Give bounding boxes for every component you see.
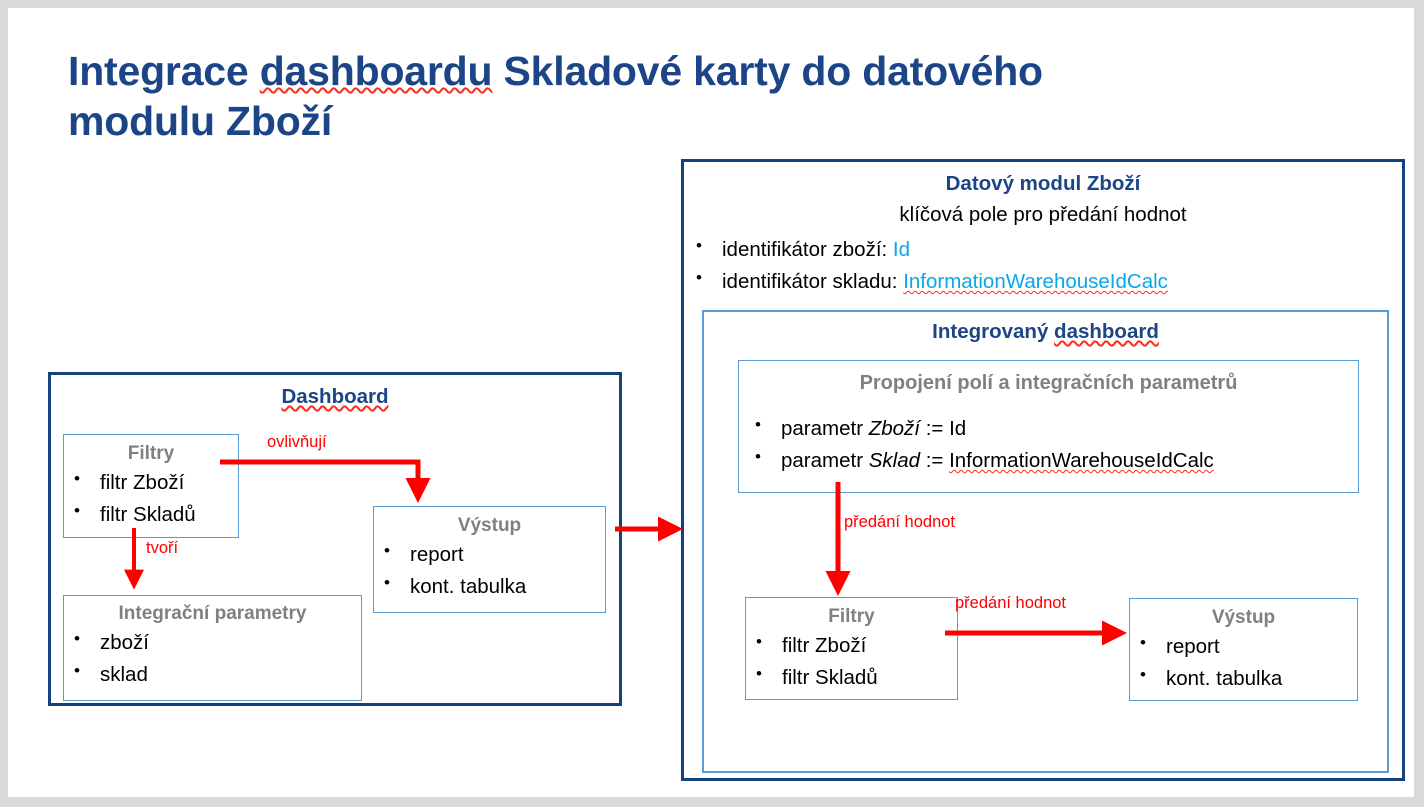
panel-datovy-modul: Datový modul Zboží klíčová pole pro před…	[681, 159, 1405, 781]
param-name: Zboží	[869, 417, 920, 440]
list-item: kont. tabulka	[374, 571, 605, 603]
list-item: filtr Skladů	[746, 662, 957, 694]
dashboard-heading-text: Dashboard	[281, 385, 388, 408]
title-text-after: Skladové karty do datového	[492, 48, 1043, 94]
slide-surround: Integrace dashboardu Skladové karty do d…	[0, 0, 1424, 807]
title-misspelled-word: dashboardu	[260, 48, 493, 94]
list-item-identifikator-zbozi: identifikátor zboží: Id	[686, 234, 1406, 266]
arrow-label-predani-hodnot-horizontal: předání hodnot	[955, 594, 1066, 613]
param-value: Id	[949, 417, 966, 440]
list-item-identifikator-skladu: identifikátor skladu: InformationWarehou…	[686, 266, 1406, 298]
panel-dashboard: Dashboard Filtry filtr Zboží filtr Sklad…	[48, 372, 622, 706]
box-filtry-right-list: filtr Zboží filtr Skladů	[746, 630, 957, 694]
list-item: report	[1130, 631, 1357, 663]
integrovany-heading-misspelled: dashboard	[1054, 320, 1159, 343]
key-label: identifikátor zboží:	[722, 238, 893, 261]
arrow-label-ovlivnuji: ovlivňují	[267, 433, 327, 452]
box-vystup-right: Výstup report kont. tabulka	[1129, 598, 1358, 701]
title-text-before: Integrace	[68, 48, 260, 94]
title-line-2: modulu Zboží	[68, 98, 332, 144]
datovy-modul-heading: Datový modul Zboží	[684, 173, 1402, 196]
box-propojeni: Propojení polí a integračních parametrů …	[738, 360, 1359, 493]
box-filtry-left-list: filtr Zboží filtr Skladů	[64, 467, 238, 531]
box-filtry-left: Filtry filtr Zboží filtr Skladů	[63, 434, 239, 538]
box-filtry-right: Filtry filtr Zboží filtr Skladů	[745, 597, 958, 700]
param-value: InformationWarehouseIdCalc	[949, 449, 1214, 472]
list-item: filtr Zboží	[64, 467, 238, 499]
integrovany-heading-text: Integrovaný	[932, 320, 1054, 343]
box-vystup-right-heading: Výstup	[1130, 606, 1357, 630]
slide-canvas: Integrace dashboardu Skladové karty do d…	[8, 8, 1414, 797]
param-op: :=	[920, 449, 949, 472]
list-item: filtr Skladů	[64, 499, 238, 531]
key-value-id: Id	[893, 238, 910, 261]
list-item: sklad	[64, 659, 361, 691]
param-prefix: parametr	[781, 449, 869, 472]
param-op: :=	[920, 417, 949, 440]
datovy-modul-key-list: identifikátor zboží: Id identifikátor sk…	[686, 234, 1406, 298]
key-label: identifikátor skladu:	[722, 270, 903, 293]
box-propojeni-heading: Propojení polí a integračních parametrů	[739, 371, 1358, 396]
param-name: Sklad	[869, 449, 920, 472]
list-item: filtr Zboží	[746, 630, 957, 662]
datovy-modul-subtitle: klíčová pole pro předání hodnot	[684, 203, 1402, 228]
integrovany-dashboard-heading: Integrovaný dashboard	[704, 321, 1387, 344]
arrow-label-tvori: tvoří	[146, 539, 178, 558]
param-prefix: parametr	[781, 417, 869, 440]
box-vystup-left-list: report kont. tabulka	[374, 539, 605, 603]
box-integracni-parametry-list: zboží sklad	[64, 627, 361, 691]
key-value-warehouse-field: InformationWarehouseIdCalc	[903, 270, 1168, 293]
title-line-1: Integrace dashboardu Skladové karty do d…	[68, 48, 1043, 94]
box-integracni-parametry: Integrační parametry zboží sklad	[63, 595, 362, 701]
box-filtry-right-heading: Filtry	[746, 605, 957, 629]
page-title: Integrace dashboardu Skladové karty do d…	[68, 46, 1228, 146]
list-item-parametr-zbozi: parametr Zboží := Id	[745, 413, 1358, 445]
arrow-label-predani-hodnot-vertical: předání hodnot	[844, 513, 955, 532]
list-item: report	[374, 539, 605, 571]
list-item: kont. tabulka	[1130, 663, 1357, 695]
box-propojeni-list: parametr Zboží := Id parametr Sklad := I…	[739, 413, 1358, 477]
list-item-parametr-sklad: parametr Sklad := InformationWarehouseId…	[745, 445, 1358, 477]
box-vystup-left-heading: Výstup	[374, 514, 605, 538]
box-integracni-parametry-heading: Integrační parametry	[64, 602, 361, 626]
box-vystup-right-list: report kont. tabulka	[1130, 631, 1357, 695]
dashboard-panel-heading: Dashboard	[51, 386, 619, 409]
box-vystup-left: Výstup report kont. tabulka	[373, 506, 606, 613]
list-item: zboží	[64, 627, 361, 659]
panel-integrovany-dashboard: Integrovaný dashboard Propojení polí a i…	[702, 310, 1389, 773]
box-filtry-left-heading: Filtry	[64, 442, 238, 466]
